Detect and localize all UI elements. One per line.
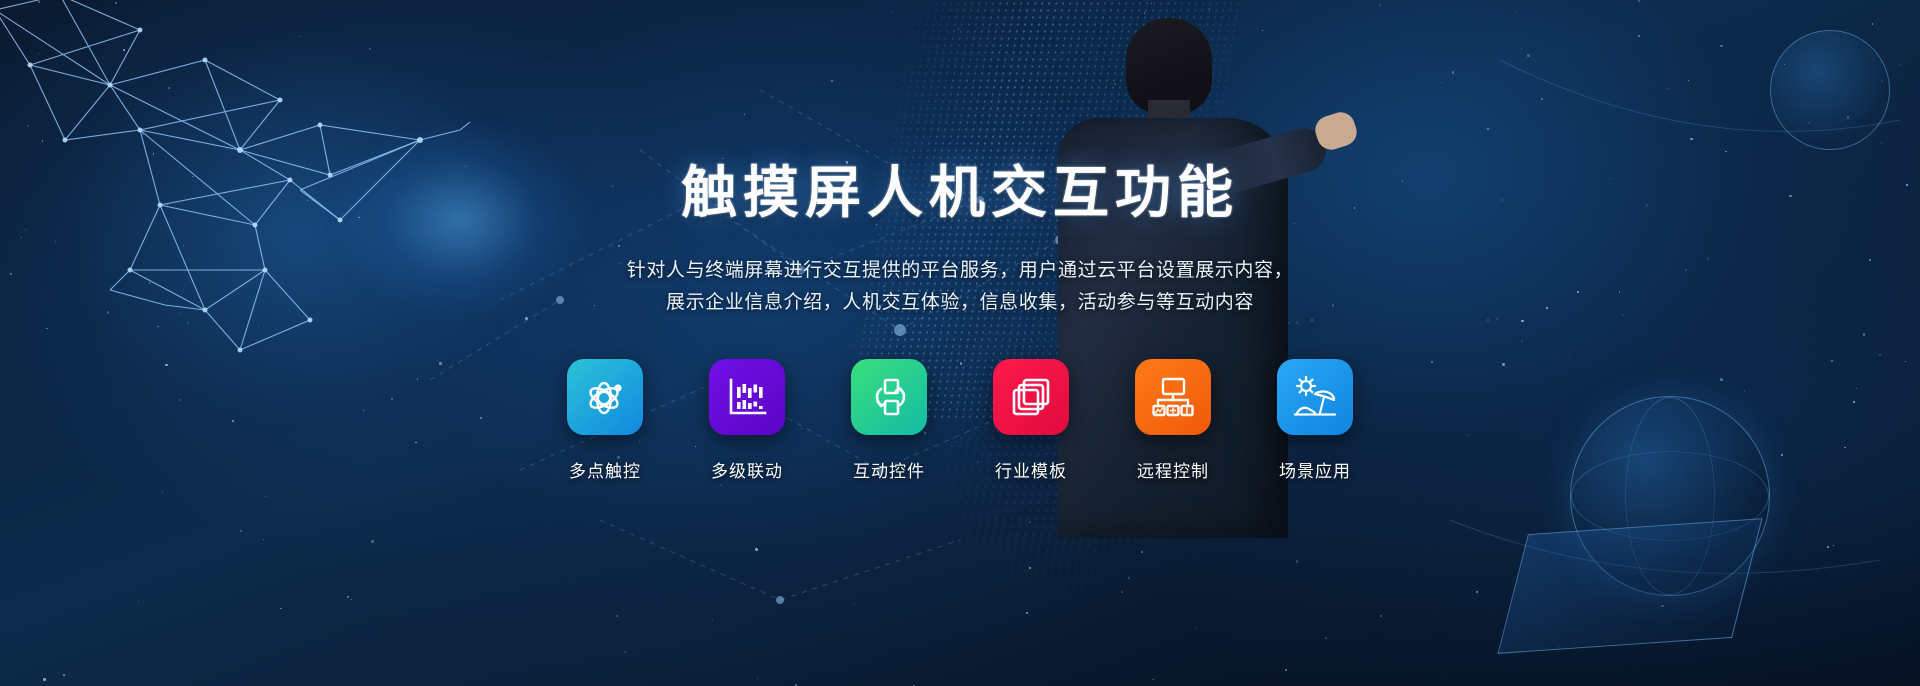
bar-chart-icon[interactable]: [709, 359, 785, 435]
network-screens-icon[interactable]: [1135, 359, 1211, 435]
beach-sun-icon[interactable]: [1277, 359, 1353, 435]
feature-list: 多点触控 多级联动 互动控件: [567, 359, 1353, 482]
feature-label: 行业模板: [995, 457, 1067, 482]
feature-label: 场景应用: [1279, 457, 1351, 482]
stacked-cards-icon[interactable]: [993, 359, 1069, 435]
banner-subtitle: 针对人与终端屏幕进行交互提供的平台服务，用户通过云平台设置展示内容， 展示企业信…: [627, 255, 1293, 319]
feature-label: 远程控制: [1137, 457, 1209, 482]
feature-item[interactable]: 多级联动: [709, 359, 785, 482]
banner-content: 触摸屏人机交互功能 针对人与终端屏幕进行交互提供的平台服务，用户通过云平台设置展…: [0, 0, 1920, 686]
feature-item[interactable]: 远程控制: [1135, 359, 1211, 482]
touchscreen-interaction-banner: 触摸屏人机交互功能 针对人与终端屏幕进行交互提供的平台服务，用户通过云平台设置展…: [0, 0, 1920, 686]
banner-title: 触摸屏人机交互功能: [681, 148, 1239, 229]
feature-item[interactable]: 互动控件: [851, 359, 927, 482]
feature-item[interactable]: 场景应用: [1277, 359, 1353, 482]
subtitle-line-2: 展示企业信息介绍，人机交互体验，信息收集，活动参与等互动内容: [627, 287, 1293, 319]
feature-item[interactable]: 行业模板: [993, 359, 1069, 482]
feature-label: 多点触控: [569, 457, 641, 482]
subtitle-line-1: 针对人与终端屏幕进行交互提供的平台服务，用户通过云平台设置展示内容，: [627, 255, 1293, 287]
feature-label: 互动控件: [853, 457, 925, 482]
feature-label: 多级联动: [711, 457, 783, 482]
feature-item[interactable]: 多点触控: [567, 359, 643, 482]
sync-blocks-icon[interactable]: [851, 359, 927, 435]
atom-icon[interactable]: [567, 359, 643, 435]
